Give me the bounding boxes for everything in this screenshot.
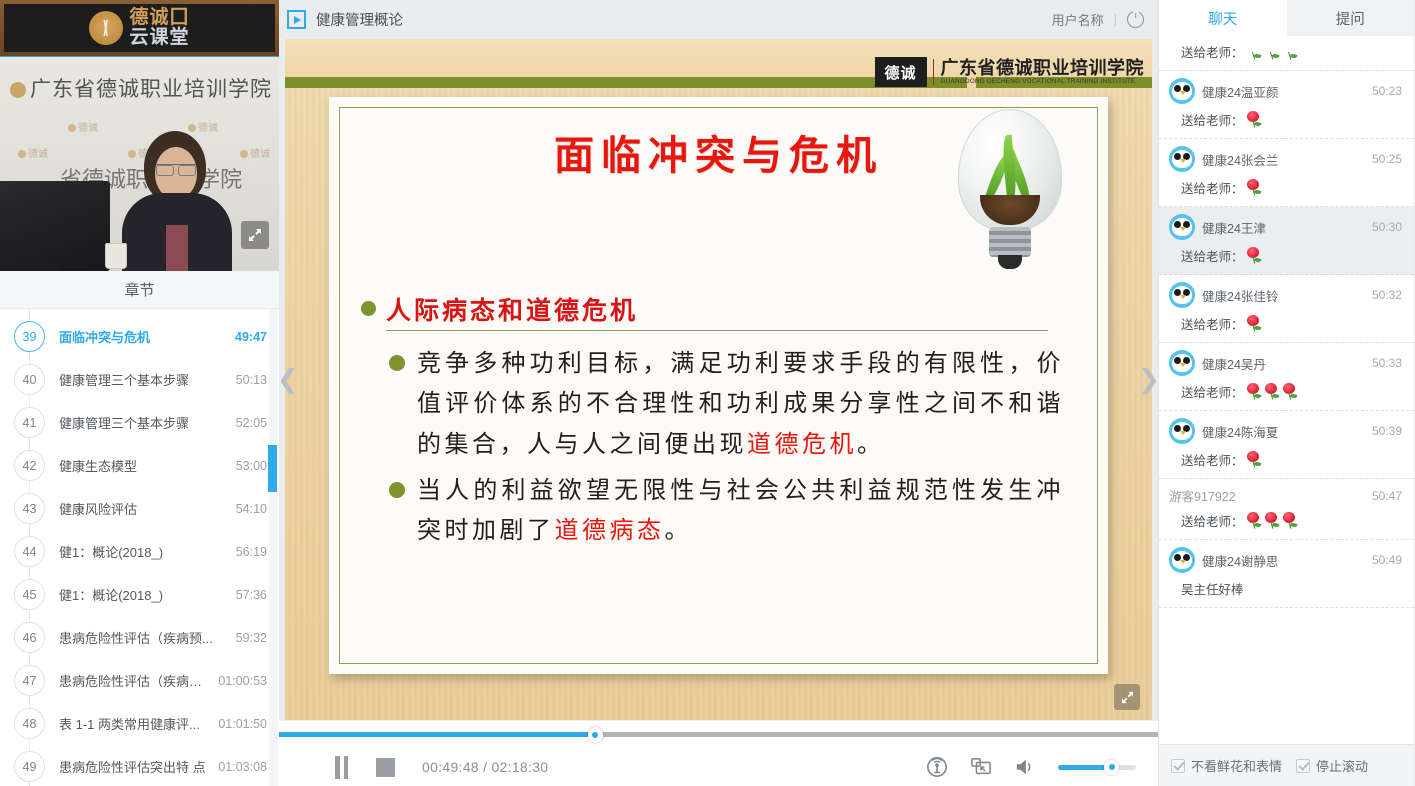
- rose-icon: [1245, 383, 1262, 400]
- message-time: 50:25: [1372, 152, 1402, 166]
- chat-tabs: 聊天 提问: [1159, 0, 1414, 36]
- message-body: 送给老师：: [1169, 450, 1402, 469]
- avatar: [1169, 350, 1195, 376]
- brand-line2: 云课堂: [129, 28, 189, 48]
- chapter-time: 49:47: [235, 330, 267, 344]
- chapters-header: 章节: [0, 271, 279, 309]
- chapter-time: 50:13: [236, 373, 267, 387]
- chapter-time: 01:00:53: [218, 674, 267, 688]
- slide-bullet-text-2: 当人的利益欲望无限性与社会公共利益规范性发生冲突时加剧了道德病态。: [417, 470, 1064, 551]
- slide-bullet-list: 竞争多种功利目标，满足功利要求手段的有限性，价值评价体系的不合理性和功利成果分享…: [389, 343, 1064, 557]
- message-sender: 健康24陈海夏: [1202, 422, 1365, 441]
- chapter-title: 患病危险性评估（疾病预...: [59, 628, 230, 647]
- rose-icon: [1245, 315, 1262, 332]
- chat-message: 健康24吴丹 50:33 送给老师：: [1159, 343, 1414, 411]
- rose-icon: [1245, 179, 1262, 196]
- slide-section-heading-text: 人际病态和道德危机: [386, 296, 638, 325]
- chapter-title: 面临冲突与危机: [59, 327, 229, 346]
- tab-qa[interactable]: 提问: [1287, 0, 1415, 36]
- chevron-right-icon[interactable]: ❯: [1138, 365, 1160, 395]
- avatar: [1169, 146, 1195, 172]
- progress-fill: [279, 732, 595, 737]
- message-body: 送给老师：: [1169, 110, 1402, 129]
- avatar: [1169, 547, 1195, 573]
- pause-button[interactable]: [335, 756, 348, 779]
- message-sender: 健康24张佳铃: [1202, 286, 1365, 305]
- chat-message-list[interactable]: 送给老师： 健康24温亚颜 50:23 送给老师：: [1159, 36, 1414, 744]
- chapter-title: 健康管理三个基本步骤: [59, 413, 230, 432]
- volume-icon[interactable]: [1014, 757, 1036, 777]
- checkbox-icon[interactable]: [1296, 759, 1310, 773]
- slide-section-heading: 人际病态和道德危机: [361, 291, 1048, 331]
- app-root: 德诚囗 云课堂 广东省德诚职业培训学院 德诚 德诚 德诚 德诚 德诚 省德诚职 …: [0, 0, 1415, 786]
- chapter-number: 47: [14, 665, 45, 696]
- message-body: 吴主任好棒: [1169, 579, 1402, 598]
- brand-banner: 德诚囗 云课堂: [0, 0, 279, 56]
- rose-icon: [1281, 512, 1298, 529]
- rose-icon: [1281, 383, 1298, 400]
- slide-stage-wrapper: ❮ ❯ 德诚 广东省德诚职业培训学院 GUANGDONG DECHENG VOC…: [279, 39, 1158, 720]
- chapter-time: 59:32: [236, 631, 267, 645]
- instructor-camera-feed[interactable]: 广东省德诚职业培训学院 德诚 德诚 德诚 德诚 德诚 省德诚职 培训学院: [0, 56, 279, 271]
- message-sender: 健康24吴丹: [1202, 354, 1365, 373]
- chat-message: 健康24张会兰 50:25 送给老师：: [1159, 139, 1414, 207]
- chapter-item-47[interactable]: 47 患病危险性评估（疾病预... 01:00:53: [0, 659, 279, 702]
- bullet-dot-icon: [389, 355, 405, 371]
- avatar: [1169, 78, 1195, 104]
- monitor-prop: [0, 181, 110, 271]
- chat-message-partial: 送给老师：: [1159, 42, 1414, 71]
- bullet-dot-icon: [389, 482, 405, 498]
- chapter-number: 40: [14, 364, 45, 395]
- chapter-number: 39: [14, 321, 45, 352]
- message-time: 50:23: [1372, 84, 1402, 98]
- chapter-number: 49: [14, 751, 45, 782]
- decheng-logo-icon: [89, 11, 123, 45]
- chapter-number: 45: [14, 579, 45, 610]
- chapter-title: 患病危险性评估突出特 点: [59, 757, 212, 776]
- message-time: 50:33: [1372, 356, 1402, 370]
- message-sender: 健康24王津: [1202, 218, 1365, 237]
- chapter-item-39[interactable]: 39 面临冲突与危机 49:47: [0, 315, 279, 358]
- institution-name-en: GUANGDONG DECHENG VOCATIONAL TRAINING IN…: [941, 78, 1145, 85]
- camera-watermark: 德诚: [18, 145, 48, 160]
- chat-message: 健康24陈海夏 50:39 送给老师：: [1159, 411, 1414, 479]
- progress-knob[interactable]: [588, 727, 603, 743]
- volume-knob[interactable]: [1104, 760, 1119, 775]
- slide-bullet-item: 竞争多种功利目标，满足功利要求手段的有限性，价值评价体系的不合理性和功利成果分享…: [389, 343, 1064, 464]
- chapter-time: 52:05: [236, 416, 267, 430]
- slide-title: 面临冲突与危机: [329, 123, 1108, 181]
- chapter-title: 健1：概论(2018_): [59, 585, 230, 604]
- message-time: 50:32: [1372, 288, 1402, 302]
- chat-message: 游客917922 50:47 送给老师：: [1159, 479, 1414, 540]
- chat-message: 健康24张佳铃 50:32 送给老师：: [1159, 275, 1414, 343]
- chapter-item-45[interactable]: 45 健1：概论(2018_) 57:36: [0, 573, 279, 616]
- chapter-item-48[interactable]: 48 表 1-1 两类常用健康评... 01:01:50: [0, 702, 279, 745]
- slide-bullet-item: 当人的利益欲望无限性与社会公共利益规范性发生冲突时加剧了道德病态。: [389, 470, 1064, 551]
- chapter-time: 01:01:50: [218, 717, 267, 731]
- chat-message: 健康24王津 50:30 送给老师：: [1159, 207, 1414, 275]
- message-time: 50:30: [1372, 220, 1402, 234]
- chat-message: 健康24温亚颜 50:23 送给老师：: [1159, 71, 1414, 139]
- chapter-time: 53:00: [236, 459, 267, 473]
- chapter-item-42[interactable]: 42 健康生态模型 53:00: [0, 444, 279, 487]
- video-player-panel: 健康管理概论 用户名称 | ❮ ❯ 德诚 广东省德诚职业培训学院 G: [279, 0, 1158, 786]
- chapter-title: 患病危险性评估（疾病预...: [59, 671, 212, 690]
- camera-banner-title: 广东省德诚职业培训学院: [10, 73, 272, 103]
- rose-icon: [1245, 512, 1262, 529]
- decheng-seal-icon: 德诚: [875, 57, 927, 87]
- player-controls: 00:49:48 / 02:18:30: [279, 720, 1158, 786]
- chat-footer: 不看鲜花和表情 停止滚动: [1159, 744, 1414, 786]
- power-icon[interactable]: [1127, 11, 1144, 28]
- message-time: 50:49: [1372, 553, 1402, 567]
- chapter-item-43[interactable]: 43 健康风险评估 54:10: [0, 487, 279, 530]
- cast-icon[interactable]: [926, 756, 948, 778]
- rose-icon: [1245, 451, 1262, 468]
- chapters-scrollbar-thumb[interactable]: [268, 445, 277, 492]
- volume-slider[interactable]: [1058, 765, 1136, 770]
- chapter-title: 健康生态模型: [59, 456, 230, 475]
- cup-prop: [105, 243, 127, 269]
- chapter-number: 48: [14, 708, 45, 739]
- chapter-item-49[interactable]: 49 患病危险性评估突出特 点 01:03:08: [0, 745, 279, 786]
- camera-watermark: 德诚: [240, 145, 270, 160]
- user-name[interactable]: 用户名称: [1052, 10, 1104, 29]
- tab-chat[interactable]: 聊天: [1159, 0, 1287, 36]
- chat-panel: 聊天 提问 送给老师： 健康24温亚颜 50:23 送给老师：: [1158, 0, 1414, 786]
- message-time: 50:47: [1372, 489, 1402, 503]
- rose-icon: [1245, 43, 1262, 60]
- stop-scroll-checkbox[interactable]: 停止滚动: [1296, 756, 1368, 775]
- message-time: 50:39: [1372, 424, 1402, 438]
- rose-icon: [1263, 383, 1280, 400]
- bullet-dot-icon: [361, 301, 376, 316]
- chapter-item-41[interactable]: 41 健康管理三个基本步骤 52:05: [0, 401, 279, 444]
- rose-icon: [1263, 512, 1280, 529]
- rose-icon: [1245, 247, 1262, 264]
- checkbox-icon[interactable]: [1171, 759, 1185, 773]
- chapter-title: 健1：概论(2018_): [59, 542, 230, 561]
- message-body: 送给老师：: [1169, 42, 1402, 61]
- chapter-item-40[interactable]: 40 健康管理三个基本步骤 50:13: [0, 358, 279, 401]
- brand-line1: 德诚囗: [129, 8, 189, 28]
- chapter-number: 44: [14, 536, 45, 567]
- chapter-number: 46: [14, 622, 45, 653]
- rose-icon: [1263, 43, 1280, 60]
- picture-in-picture-icon[interactable]: [970, 757, 992, 777]
- presentation-slide: 德诚 广东省德诚职业培训学院 GUANGDONG DECHENG VOCATIO…: [285, 39, 1152, 720]
- chapter-list: 39 面临冲突与危机 49:47 40 健康管理三个基本步骤 50:13 41 …: [0, 309, 279, 786]
- chapter-time: 01:03:08: [218, 760, 267, 774]
- chapter-title: 健康风险评估: [59, 499, 230, 518]
- hide-flowers-checkbox[interactable]: 不看鲜花和表情: [1171, 756, 1282, 775]
- progress-bar[interactable]: [279, 732, 1158, 737]
- camera-watermark: 德诚: [68, 119, 98, 134]
- avatar: [1169, 214, 1195, 240]
- chapter-title: 健康管理三个基本步骤: [59, 370, 230, 389]
- institution-name-cn: 广东省德诚职业培训学院: [941, 59, 1145, 79]
- pause-icon: [335, 756, 348, 779]
- left-sidebar: 德诚囗 云课堂 广东省德诚职业培训学院 德诚 德诚 德诚 德诚 德诚 省德诚职 …: [0, 0, 279, 786]
- chat-message: 健康24谢静思 50:49 吴主任好棒: [1159, 540, 1414, 608]
- chapter-time: 56:19: [236, 545, 267, 559]
- message-body: 送给老师：: [1169, 314, 1402, 333]
- slide-content-card: 面临冲突与危机 人际病态和道德危机 竞争多种功利目标，满足功利要求手段的有限性，…: [329, 97, 1108, 674]
- rose-icon: [1281, 43, 1298, 60]
- message-body: 送给老师：: [1169, 382, 1402, 401]
- fullscreen-icon[interactable]: [1114, 684, 1140, 710]
- avatar: [1169, 282, 1195, 308]
- chevron-left-icon[interactable]: ❮: [277, 365, 299, 395]
- message-sender: 游客917922: [1169, 486, 1365, 505]
- course-title: 健康管理概论: [316, 9, 403, 30]
- chapter-number: 42: [14, 450, 45, 481]
- chapter-item-44[interactable]: 44 健1：概论(2018_) 56:19: [0, 530, 279, 573]
- rose-icon: [1245, 111, 1262, 128]
- chapters-scroll-area[interactable]: 39 面临冲突与危机 49:47 40 健康管理三个基本步骤 50:13 41 …: [0, 309, 279, 786]
- message-body: 送给老师：: [1169, 511, 1402, 530]
- chapter-title: 表 1-1 两类常用健康评...: [59, 714, 212, 733]
- player-header: 健康管理概论 用户名称 |: [279, 0, 1158, 39]
- stop-button[interactable]: [376, 758, 395, 777]
- chapter-number: 41: [14, 407, 45, 438]
- expand-icon[interactable]: [241, 221, 269, 249]
- slide-institution-logo: 德诚 广东省德诚职业培训学院 GUANGDONG DECHENG VOCATIO…: [875, 57, 1145, 87]
- slide-stage[interactable]: 德诚 广东省德诚职业培训学院 GUANGDONG DECHENG VOCATIO…: [285, 39, 1152, 720]
- chapter-time: 54:10: [236, 502, 267, 516]
- header-separator: |: [1114, 12, 1117, 27]
- message-sender: 健康24谢静思: [1202, 551, 1365, 570]
- hide-flowers-label: 不看鲜花和表情: [1191, 756, 1282, 775]
- instructor-figure: [122, 131, 232, 271]
- chapter-item-46[interactable]: 46 患病危险性评估（疾病预... 59:32: [0, 616, 279, 659]
- message-sender: 健康24张会兰: [1202, 150, 1365, 169]
- message-sender: 健康24温亚颜: [1202, 82, 1365, 101]
- stop-scroll-label: 停止滚动: [1316, 756, 1368, 775]
- slide-bullet-text-1: 竞争多种功利目标，满足功利要求手段的有限性，价值评价体系的不合理性和功利成果分享…: [417, 343, 1064, 464]
- time-display: 00:49:48 / 02:18:30: [422, 759, 548, 775]
- chapter-time: 57:36: [236, 588, 267, 602]
- play-square-icon: [287, 10, 306, 29]
- avatar: [1169, 418, 1195, 444]
- message-body: 送给老师：: [1169, 246, 1402, 265]
- message-body: 送给老师：: [1169, 178, 1402, 197]
- chapter-number: 43: [14, 493, 45, 524]
